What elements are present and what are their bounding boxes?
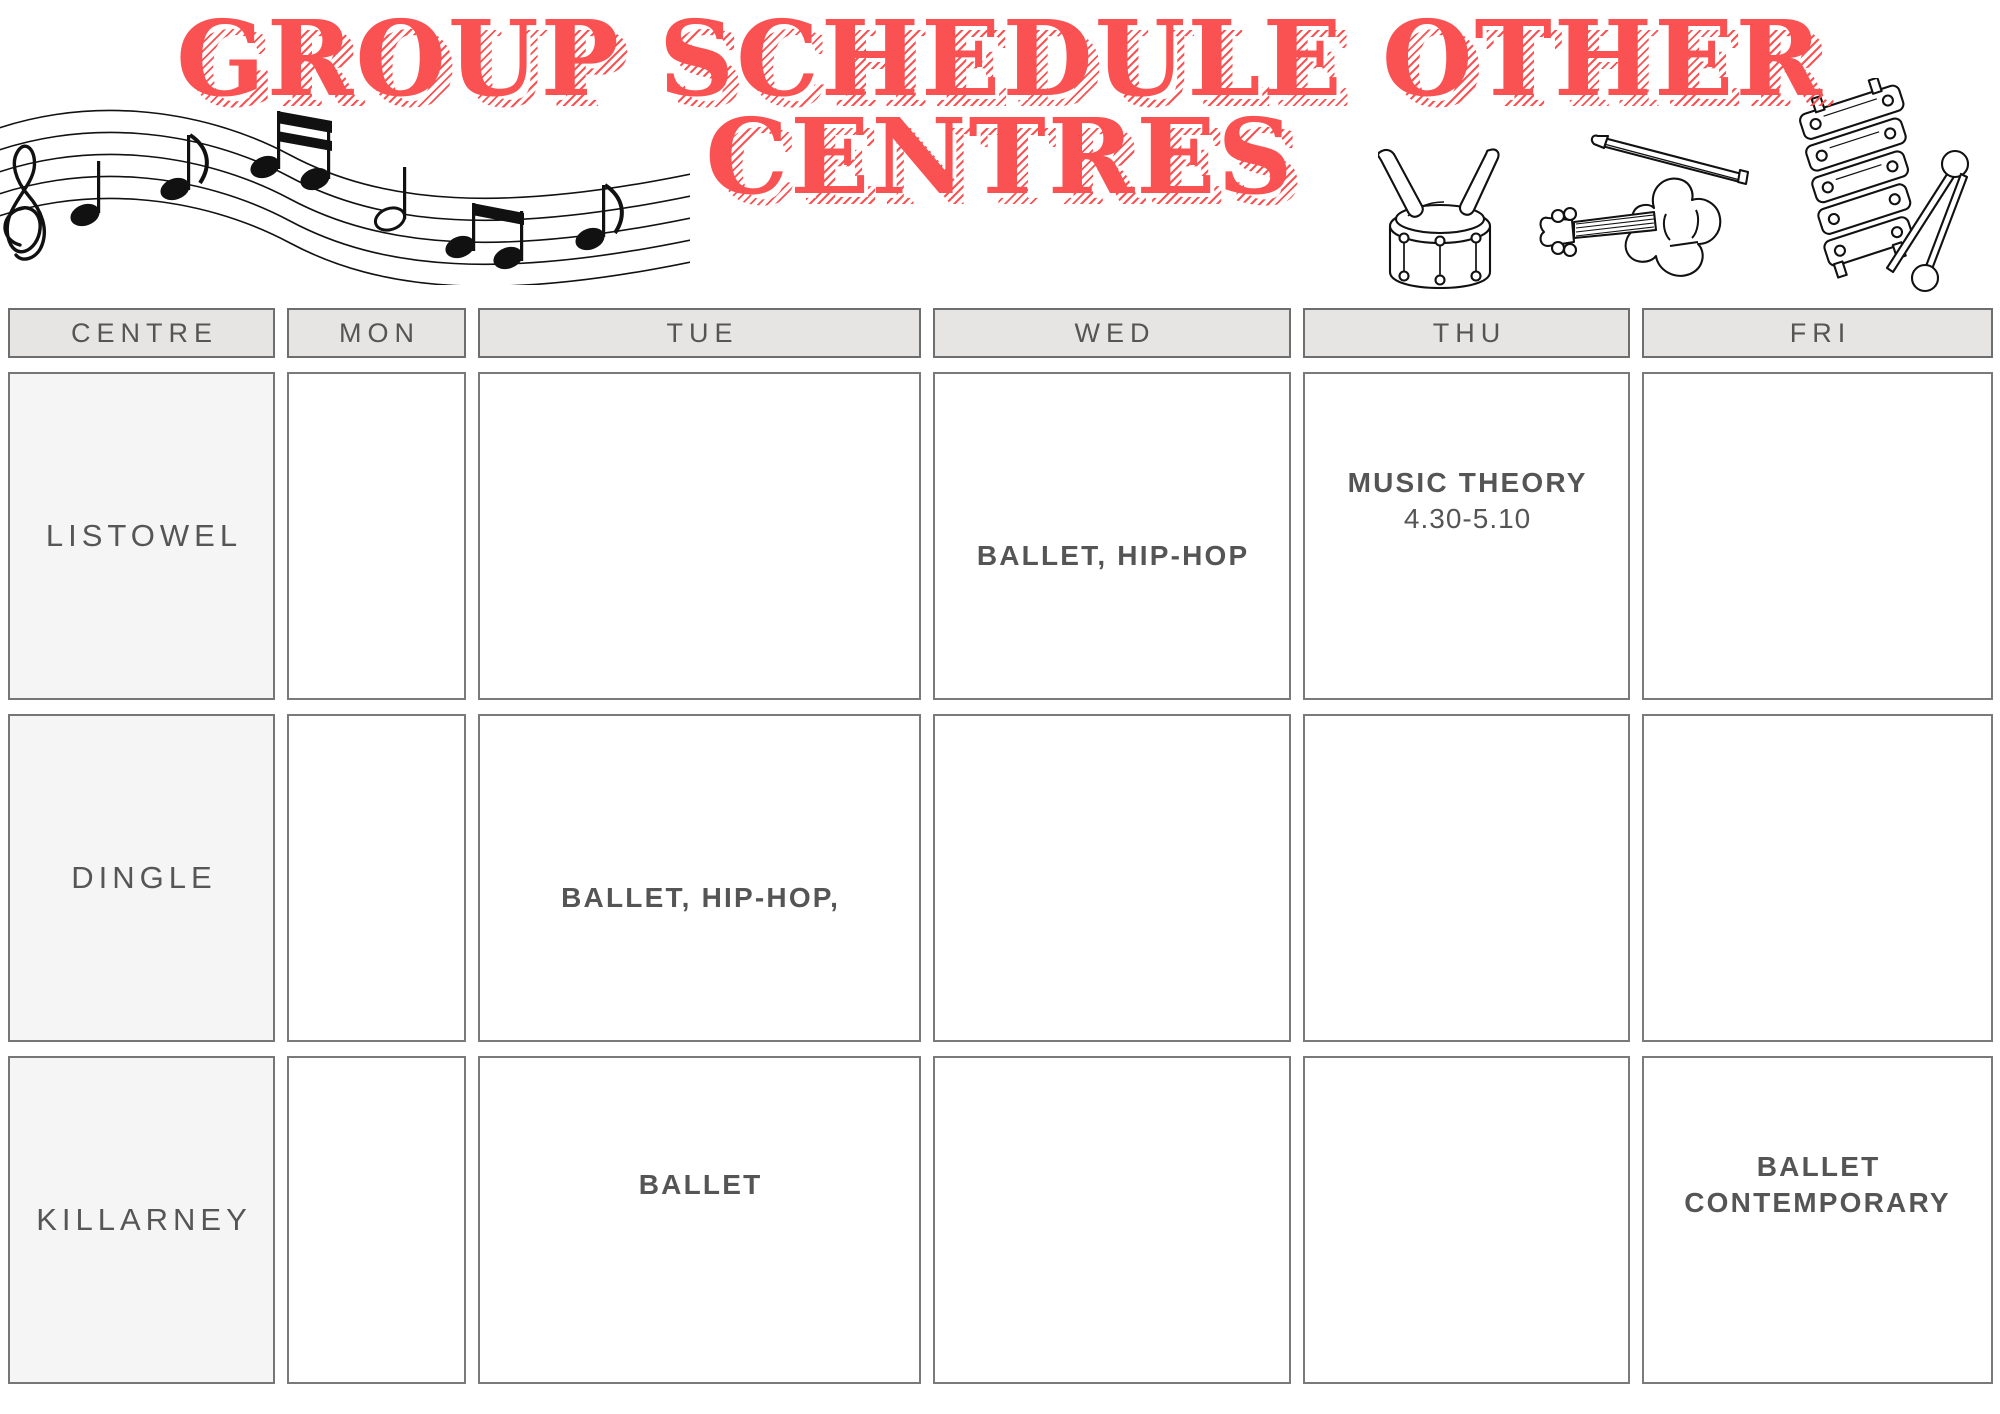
cell-dingle-tue[interactable]: BALLET, HIP-HOP, (478, 714, 921, 1042)
xylophone-icon (1775, 78, 1990, 293)
table-row: LISTOWEL BALLET, HIP-HOP MUSIC THEORY 4.… (8, 372, 1993, 700)
column-gap (1630, 372, 1642, 700)
column-gap (1291, 714, 1303, 1042)
page-title-line-2-text: CENTRES (705, 95, 1294, 218)
class-time-music-theory: 4.30-5.10 (1345, 501, 1587, 537)
column-gap (275, 308, 287, 358)
column-gap (1291, 372, 1303, 700)
column-gap (275, 372, 287, 700)
centre-name-dingle: DINGLE (8, 714, 275, 1042)
column-gap (921, 372, 933, 700)
column-gap (466, 308, 478, 358)
table-row: DINGLE BALLET, HIP-HOP, (8, 714, 1993, 1042)
row-gap (8, 700, 1993, 714)
column-gap (466, 714, 478, 1042)
class-name-contemporary: CONTEMPORARY (1684, 1187, 1950, 1218)
row-gap (8, 358, 1993, 372)
class-name-ballet: BALLET (1757, 1151, 1881, 1182)
cell-dingle-thu[interactable] (1303, 714, 1630, 1042)
page-title-line-1: GROUP SCHEDULE OTHER GROUP SCHEDULE OTHE… (0, 10, 2000, 108)
column-gap (1630, 308, 1642, 358)
column-gap (921, 308, 933, 358)
table-header-row: CENTRE MON TUE WED THU FRI (8, 308, 1993, 358)
table-row: KILLARNEY BALLET BALLET CONTEMPORARY (8, 1056, 1993, 1384)
row-gap (8, 1042, 1993, 1056)
centre-name-killarney: KILLARNEY (8, 1056, 275, 1384)
cell-listowel-tue[interactable] (478, 372, 921, 700)
column-gap (275, 1056, 287, 1384)
column-gap (921, 1056, 933, 1384)
column-header-thu: THU (1303, 308, 1630, 358)
cell-killarney-wed[interactable] (933, 1056, 1291, 1384)
page-header-band: GROUP SCHEDULE OTHER GROUP SCHEDULE OTHE… (0, 0, 2000, 300)
cell-listowel-fri[interactable] (1642, 372, 1993, 700)
cell-dingle-fri[interactable] (1642, 714, 1993, 1042)
column-gap (1630, 1056, 1642, 1384)
centre-name-listowel: LISTOWEL (8, 372, 275, 700)
cell-killarney-thu[interactable] (1303, 1056, 1630, 1384)
musical-staff-icon (0, 95, 690, 285)
column-header-mon: MON (287, 308, 466, 358)
column-header-tue: TUE (478, 308, 921, 358)
column-gap (275, 714, 287, 1042)
cell-dingle-wed[interactable] (933, 714, 1291, 1042)
class-name-music-theory: MUSIC THEORY (1348, 467, 1588, 498)
column-gap (1630, 714, 1642, 1042)
column-header-fri: FRI (1642, 308, 1993, 358)
cell-killarney-fri[interactable]: BALLET CONTEMPORARY (1642, 1056, 1993, 1384)
cell-killarney-mon[interactable] (287, 1056, 466, 1384)
cell-listowel-thu[interactable]: MUSIC THEORY 4.30-5.10 (1303, 372, 1630, 700)
cell-listowel-mon[interactable] (287, 372, 466, 700)
schedule-table: CENTRE MON TUE WED THU FRI LISTOWEL BALL… (8, 308, 1993, 1384)
cell-killarney-tue[interactable]: BALLET (478, 1056, 921, 1384)
column-header-wed: WED (933, 308, 1291, 358)
cell-listowel-wed[interactable]: BALLET, HIP-HOP (933, 372, 1291, 700)
column-gap (466, 372, 478, 700)
cell-dingle-mon[interactable] (287, 714, 466, 1042)
snare-drum-icon (1378, 140, 1528, 290)
column-gap (1291, 308, 1303, 358)
column-gap (466, 1056, 478, 1384)
column-gap (921, 714, 933, 1042)
column-header-centre: CENTRE (8, 308, 275, 358)
column-gap (1291, 1056, 1303, 1384)
violin-icon (1530, 118, 1750, 293)
